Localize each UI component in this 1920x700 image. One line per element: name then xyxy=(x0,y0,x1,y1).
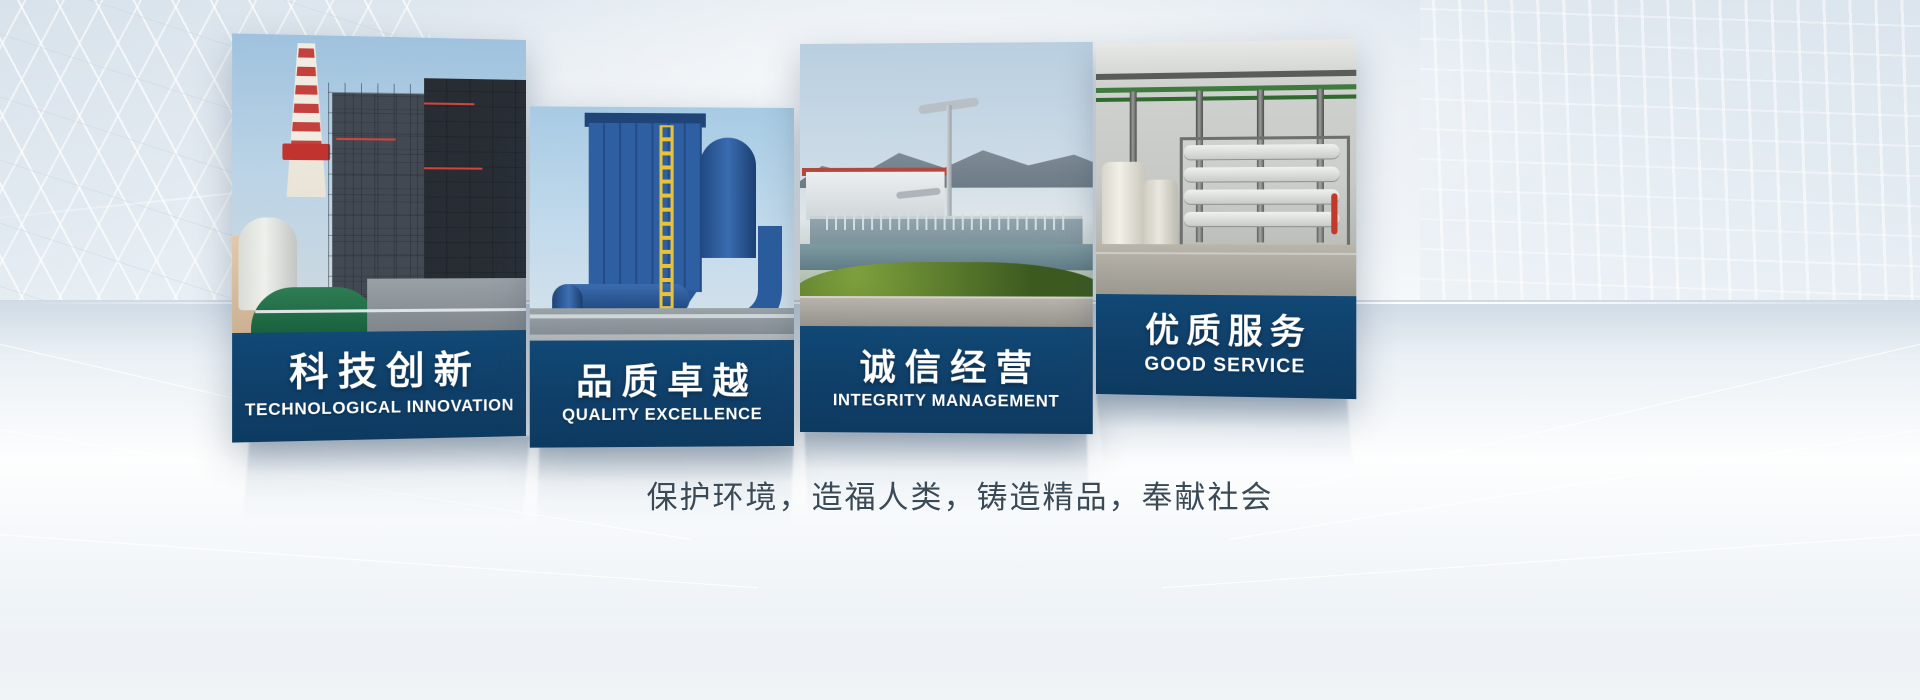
panel-title-zh: 优质服务 xyxy=(1138,313,1312,351)
panel-title-en: QUALITY EXCELLENCE xyxy=(562,405,762,425)
feature-panel-good-service[interactable]: 优质服务 GOOD SERVICE xyxy=(1096,39,1356,399)
ro-membrane-room-photo xyxy=(1096,39,1356,296)
feature-panel-integrity-management[interactable]: 诚信经营 INTEGRITY MANAGEMENT xyxy=(800,42,1093,434)
panel-title-en: GOOD SERVICE xyxy=(1144,354,1305,379)
panel-row: 科技创新 TECHNOLOGICAL INNOVATION xyxy=(0,0,1920,700)
panel-caption: 科技创新 TECHNOLOGICAL INNOVATION xyxy=(232,330,526,443)
panel-title-zh: 诚信经营 xyxy=(851,348,1042,387)
panel-title-en: INTEGRITY MANAGEMENT xyxy=(833,391,1060,411)
panel-caption: 品质卓越 QUALITY EXCELLENCE xyxy=(530,340,794,448)
panel-title-zh: 科技创新 xyxy=(280,352,481,396)
banner-tagline: 保护环境，造福人类，铸造精品，奉献社会 xyxy=(0,472,1920,517)
wastewater-plant-photo xyxy=(800,42,1093,327)
panel-title-en: TECHNOLOGICAL INNOVATION xyxy=(245,396,514,420)
panel-caption: 诚信经营 INTEGRITY MANAGEMENT xyxy=(800,326,1093,434)
industrial-stack-photo xyxy=(232,33,526,333)
panel-caption: 优质服务 GOOD SERVICE xyxy=(1096,294,1356,399)
feature-panel-quality-excellence[interactable]: 品质卓越 QUALITY EXCELLENCE xyxy=(530,106,794,447)
feature-panel-technological-innovation[interactable]: 科技创新 TECHNOLOGICAL INNOVATION xyxy=(232,33,526,442)
banner-stage: 科技创新 TECHNOLOGICAL INNOVATION xyxy=(0,0,1920,700)
dust-collector-photo xyxy=(530,106,794,340)
panel-reflection xyxy=(1097,394,1354,472)
panel-title-zh: 品质卓越 xyxy=(567,362,758,401)
